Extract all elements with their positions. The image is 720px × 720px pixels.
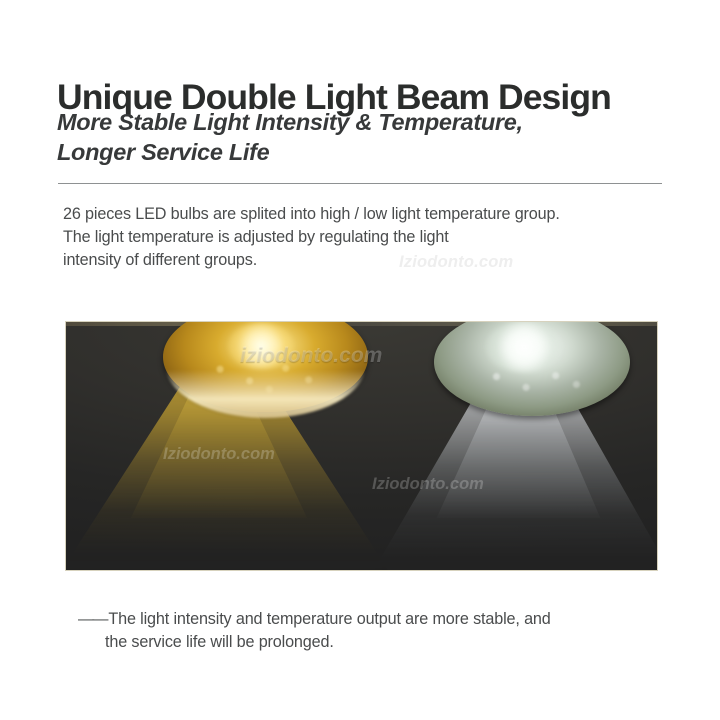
silver-reflector-hotspot bbox=[486, 322, 562, 372]
header-divider bbox=[58, 183, 662, 184]
product-photo: iziodonto.com Iziodonto.com Iziodonto.co… bbox=[66, 322, 657, 570]
description-paragraph: 26 pieces LED bulbs are splited into hig… bbox=[63, 203, 683, 272]
silver-reflector-lamp bbox=[434, 322, 630, 416]
description-line-1: 26 pieces LED bulbs are splited into hig… bbox=[63, 203, 683, 226]
photo-caption: ——The light intensity and temperature ou… bbox=[78, 608, 678, 654]
gold-reflector-lamp bbox=[163, 322, 368, 412]
page-subtitle-line-2: Longer Service Life bbox=[57, 137, 667, 167]
description-line-3: intensity of different groups. bbox=[63, 249, 683, 272]
caption-dash: —— bbox=[78, 610, 106, 628]
gold-reflector-ring bbox=[165, 322, 366, 418]
page-subtitle-line-1: More Stable Light Intensity & Temperatur… bbox=[57, 109, 523, 135]
caption-line-1: The light intensity and temperature outp… bbox=[108, 610, 550, 628]
description-line-2: The light temperature is adjusted by reg… bbox=[63, 226, 683, 249]
product-feature-page: Unique Double Light Beam Design More Sta… bbox=[0, 0, 720, 720]
caption-line-2: the service life will be prolonged. bbox=[78, 631, 678, 654]
page-subtitle: More Stable Light Intensity & Temperatur… bbox=[57, 107, 667, 167]
